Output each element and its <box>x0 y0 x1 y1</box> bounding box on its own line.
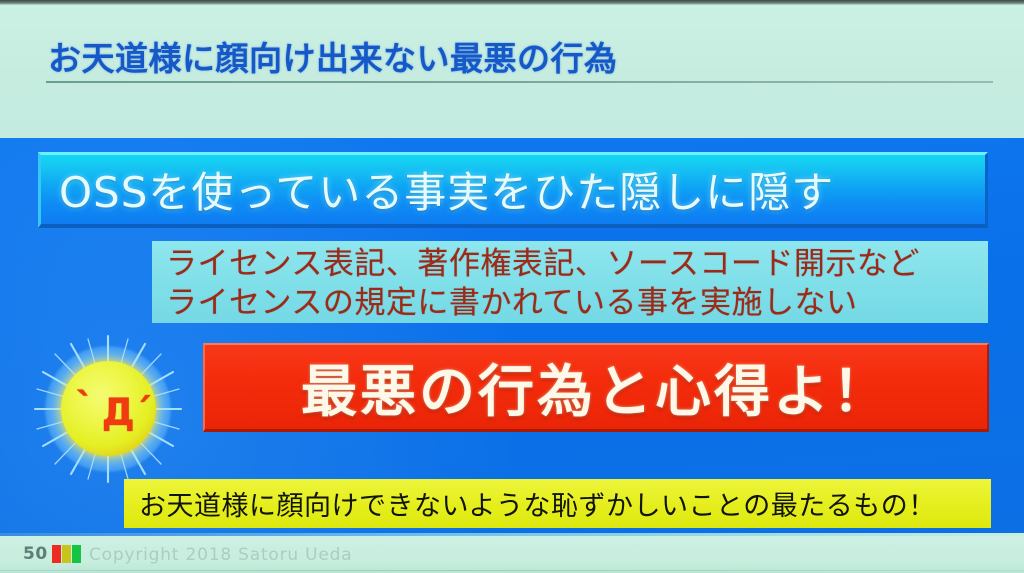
headline-banner-blue-text: OSSを使っている事実をひた隠しに隠す <box>59 159 834 220</box>
warning-banner-red-text: 最悪の行為と心得よ！ <box>301 347 891 428</box>
warning-banner-red: 最悪の行為と心得よ！ <box>203 343 989 432</box>
copyright-text: Copyright 2018 Satoru Ueda <box>89 545 353 565</box>
footer-accent-bar <box>0 533 1024 536</box>
title-underline-rule <box>46 81 993 83</box>
headline-banner-blue: OSSを使っている事実をひた隠しに隠す <box>38 152 988 228</box>
logo-block-green <box>72 545 81 563</box>
sun-face-text: ｀Д´ <box>61 361 156 456</box>
note-banner-yellow: お天道様に顔向けできないような恥ずかしいことの最たるもの！ <box>124 479 991 528</box>
slide-body-panel: OSSを使っている事実をひた隠しに隠す ライセンス表記、著作権表記、ソースコード… <box>0 138 1024 533</box>
detail-text-box: ライセンス表記、著作権表記、ソースコード開示など ライセンスの規定に書かれている… <box>152 241 988 323</box>
logo-color-blocks-icon <box>52 545 81 563</box>
page-number: 50 <box>23 544 48 564</box>
slide-footer: 50 Copyright 2018 Satoru Ueda <box>0 533 1024 573</box>
angry-sun-icon: ｀Д´ <box>33 334 183 484</box>
slide-title-area: お天道様に顔向け出来ない最悪の行為 <box>0 5 1024 138</box>
footer-hairline <box>0 570 1024 571</box>
page-title: お天道様に顔向け出来ない最悪の行為 <box>48 32 618 80</box>
presentation-slide: お天道様に顔向け出来ない最悪の行為 OSSを使っている事実をひた隠しに隠す ライ… <box>0 0 1024 573</box>
detail-text-line-2: ライセンスの規定に書かれている事を実施しない <box>166 284 988 323</box>
detail-text-line-1: ライセンス表記、著作権表記、ソースコード開示など <box>166 245 988 284</box>
note-banner-yellow-text: お天道様に顔向けできないような恥ずかしいことの最たるもの！ <box>139 484 936 523</box>
logo-block-yellow <box>62 545 71 563</box>
logo-block-red <box>52 545 61 563</box>
